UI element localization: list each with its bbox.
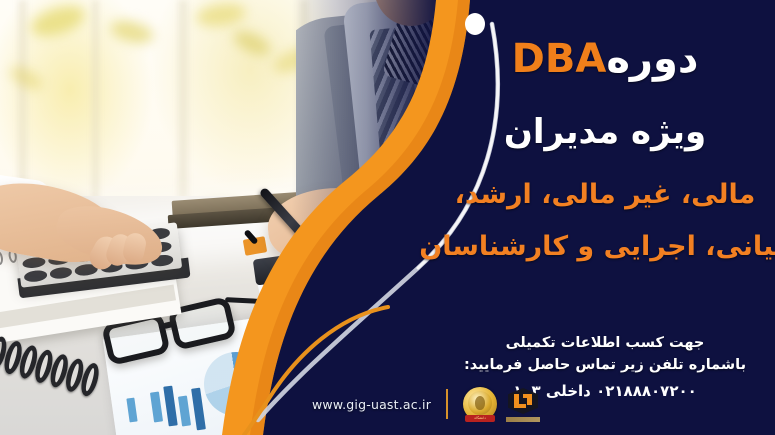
seal-caption-text: دانشگاه — [465, 415, 495, 422]
footer-divider — [446, 389, 448, 419]
website-url[interactable]: www.gig-uast.ac.ir — [312, 397, 431, 412]
cube-monogram — [514, 394, 532, 408]
gold-seal-logo-icon: دانشگاه — [463, 387, 497, 421]
contact-line-2: باشماره تلفن زیر تماس حاصل فرمایید: — [443, 354, 767, 376]
dba-course-banner: دورهDBA ویژه مدیران مالی، غیر مالی، ارشد… — [0, 0, 775, 435]
headline-line-2: ویژه مدیران — [435, 114, 775, 151]
headline-dba-label: DBA — [512, 36, 607, 82]
headline-line-1: دورهDBA — [435, 38, 775, 81]
seal-figure — [475, 396, 485, 410]
seal-caption-band: دانشگاه — [465, 415, 495, 422]
headline-block: دورهDBA ویژه مدیران مالی، غیر مالی، ارشد… — [435, 0, 775, 435]
logo-wordmark-strip — [506, 417, 540, 422]
headline-line-4: میانی، اجرایی و کارشناسان — [417, 232, 775, 261]
headline-line-3: مالی، غیر مالی، ارشد، — [435, 180, 775, 209]
uast-cube-logo-icon — [506, 387, 540, 421]
contact-line-1: جهت کسب اطلاعات تکمیلی — [443, 332, 767, 354]
headline-line-1-prefix: دوره — [606, 36, 698, 82]
footer-bar: دانشگاه www.gig-uast.ac.ir — [312, 387, 540, 421]
